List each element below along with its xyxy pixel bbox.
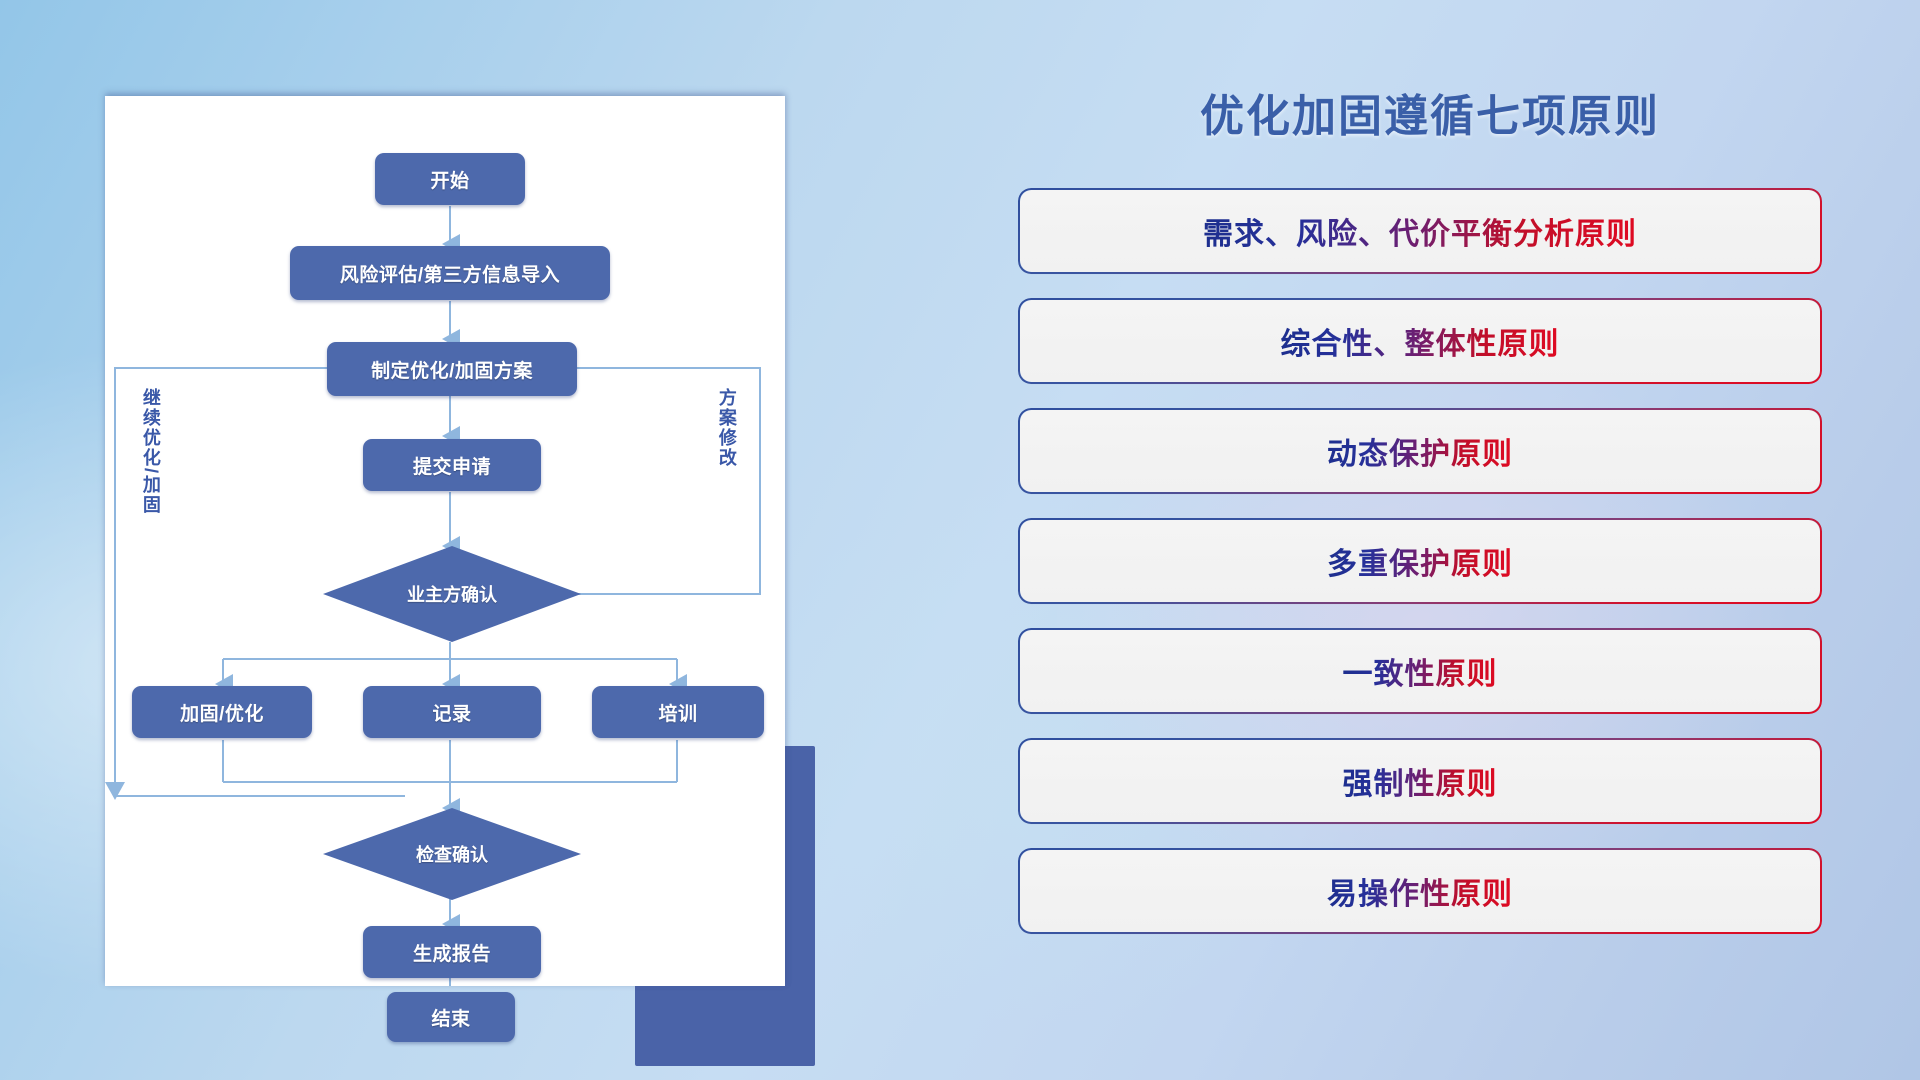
principle-card[interactable]: 多重保护原则 [1020, 520, 1820, 602]
principle-label: 需求、风险、代价平衡分析原则 [1203, 209, 1637, 253]
edge-label-plan-revision: 方案修改 [717, 388, 736, 468]
page-title: 优化加固遵循七项原则 [1020, 80, 1840, 144]
principle-card[interactable]: 需求、风险、代价平衡分析原则 [1020, 190, 1820, 272]
flow-node-reinforce[interactable]: 加固/优化 [132, 686, 312, 738]
principle-card[interactable]: 一致性原则 [1020, 630, 1820, 712]
principle-label: 多重保护原则 [1327, 539, 1513, 583]
flow-node-record[interactable]: 记录 [363, 686, 541, 738]
principle-card[interactable]: 强制性原则 [1020, 740, 1820, 822]
flow-node-training[interactable]: 培训 [592, 686, 764, 738]
principle-label: 强制性原则 [1343, 759, 1498, 803]
flowchart-panel: 开始 风险评估/第三方信息导入 制定优化/加固方案 提交申请 业主方确认 加固/… [105, 96, 785, 966]
edge-label-continue-optimize: 继续优化/加固 [141, 388, 160, 515]
flow-node-end[interactable]: 结束 [387, 992, 515, 1042]
principle-card[interactable]: 动态保护原则 [1020, 410, 1820, 492]
flow-node-plan[interactable]: 制定优化/加固方案 [327, 342, 577, 396]
flow-node-start[interactable]: 开始 [375, 153, 525, 205]
flowchart-canvas: 开始 风险评估/第三方信息导入 制定优化/加固方案 提交申请 业主方确认 加固/… [105, 96, 785, 966]
principle-label: 一致性原则 [1343, 649, 1498, 693]
principle-label: 动态保护原则 [1327, 429, 1513, 473]
principles-panel: 优化加固遵循七项原则 需求、风险、代价平衡分析原则 综合性、整体性原则 动态保护… [1020, 80, 1840, 1020]
principle-card[interactable]: 易操作性原则 [1020, 850, 1820, 932]
principle-card[interactable]: 综合性、整体性原则 [1020, 300, 1820, 382]
principle-label: 综合性、整体性原则 [1281, 319, 1560, 363]
principle-label: 易操作性原则 [1327, 869, 1513, 913]
flow-node-submit-application[interactable]: 提交申请 [363, 439, 541, 491]
flow-node-generate-report[interactable]: 生成报告 [363, 926, 541, 978]
flow-node-risk-assessment[interactable]: 风险评估/第三方信息导入 [290, 246, 610, 300]
